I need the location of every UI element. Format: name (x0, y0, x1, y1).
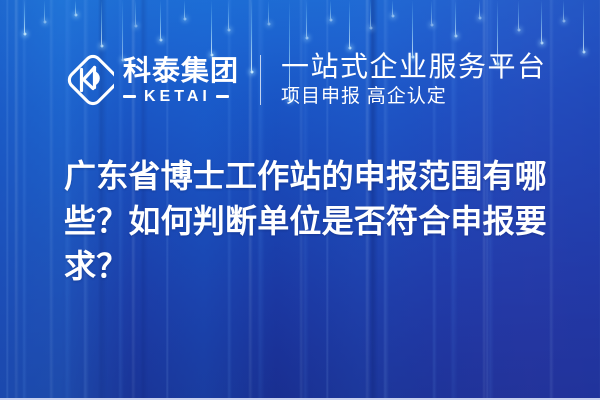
meteor-tail (160, 0, 161, 40)
meteor-head-icon (23, 32, 27, 36)
meteor-head-icon (562, 19, 566, 23)
logo-dash-right-icon (216, 95, 229, 98)
meteor-tail (479, 0, 480, 18)
meteor-tail (518, 0, 519, 30)
ketai-diamond-monogram-icon (62, 54, 114, 106)
meteor-tail (101, 0, 102, 46)
meteor-tail (228, 0, 229, 30)
page-title-line: 求？ (64, 244, 564, 289)
meteor-tail (349, 0, 350, 48)
meteor-head-icon (43, 20, 47, 24)
meteor-tail (135, 0, 136, 26)
meteor-head-icon (391, 14, 395, 18)
banner-header: 科泰集团 KETAI 一站式企业服务平台 项目申报 高企认定 (0, 44, 600, 116)
brand-logo-wordmark: 科泰集团 KETAI (123, 56, 239, 105)
meteor-tail (44, 0, 45, 22)
meteor-tail (24, 0, 25, 34)
meteor-head-icon (267, 22, 271, 26)
logo-dash-left-icon (123, 95, 136, 98)
brand-slogan: 一站式企业服务平台 项目申报 高企认定 (281, 52, 547, 108)
meteor-head-icon (454, 34, 458, 38)
header-vertical-divider (260, 55, 261, 105)
brand-name-en-row: KETAI (123, 88, 239, 105)
meteor-tail (184, 0, 185, 19)
meteor-head-icon (305, 36, 309, 40)
meteor-tail (268, 0, 269, 24)
promo-banner: 科泰集团 KETAI 一站式企业服务平台 项目申报 高企认定 广东省博士工作站的… (0, 0, 600, 400)
meteor-head-icon (430, 23, 434, 27)
meteor-tail (330, 0, 331, 20)
meteor-head-icon (478, 16, 482, 20)
brand-name-en: KETAI (142, 88, 211, 105)
slogan-sub-text: 项目申报 高企认定 (281, 86, 547, 108)
meteor-head-icon (183, 17, 187, 21)
page-title: 广东省博士工作站的申报范围有哪 些？如何判断单位是否符合申报要 求？ (64, 154, 564, 289)
meteor-head-icon (329, 18, 333, 22)
meteor-tail (431, 0, 432, 25)
meteor-tail (455, 0, 456, 36)
slogan-main-text: 一站式企业服务平台 (281, 52, 547, 83)
page-title-line: 些？如何判断单位是否符合申报要 (64, 199, 564, 244)
meteor-head-icon (517, 28, 521, 32)
meteor-head-icon (369, 26, 373, 30)
meteor-tail (563, 0, 564, 21)
meteor-tail (306, 0, 307, 38)
meteor-head-icon (74, 13, 78, 17)
meteor-tail (392, 0, 393, 16)
meteor-head-icon (227, 28, 231, 32)
meteor-tail (370, 0, 371, 28)
meteor-tail (541, 0, 542, 43)
meteor-head-icon (134, 24, 138, 28)
page-title-line: 广东省博士工作站的申报范围有哪 (64, 154, 564, 199)
brand-logo[interactable]: 科泰集团 KETAI (62, 54, 239, 106)
brand-name-cn: 科泰集团 (123, 56, 239, 86)
meteor-tail (75, 0, 76, 15)
meteor-head-icon (159, 38, 163, 42)
